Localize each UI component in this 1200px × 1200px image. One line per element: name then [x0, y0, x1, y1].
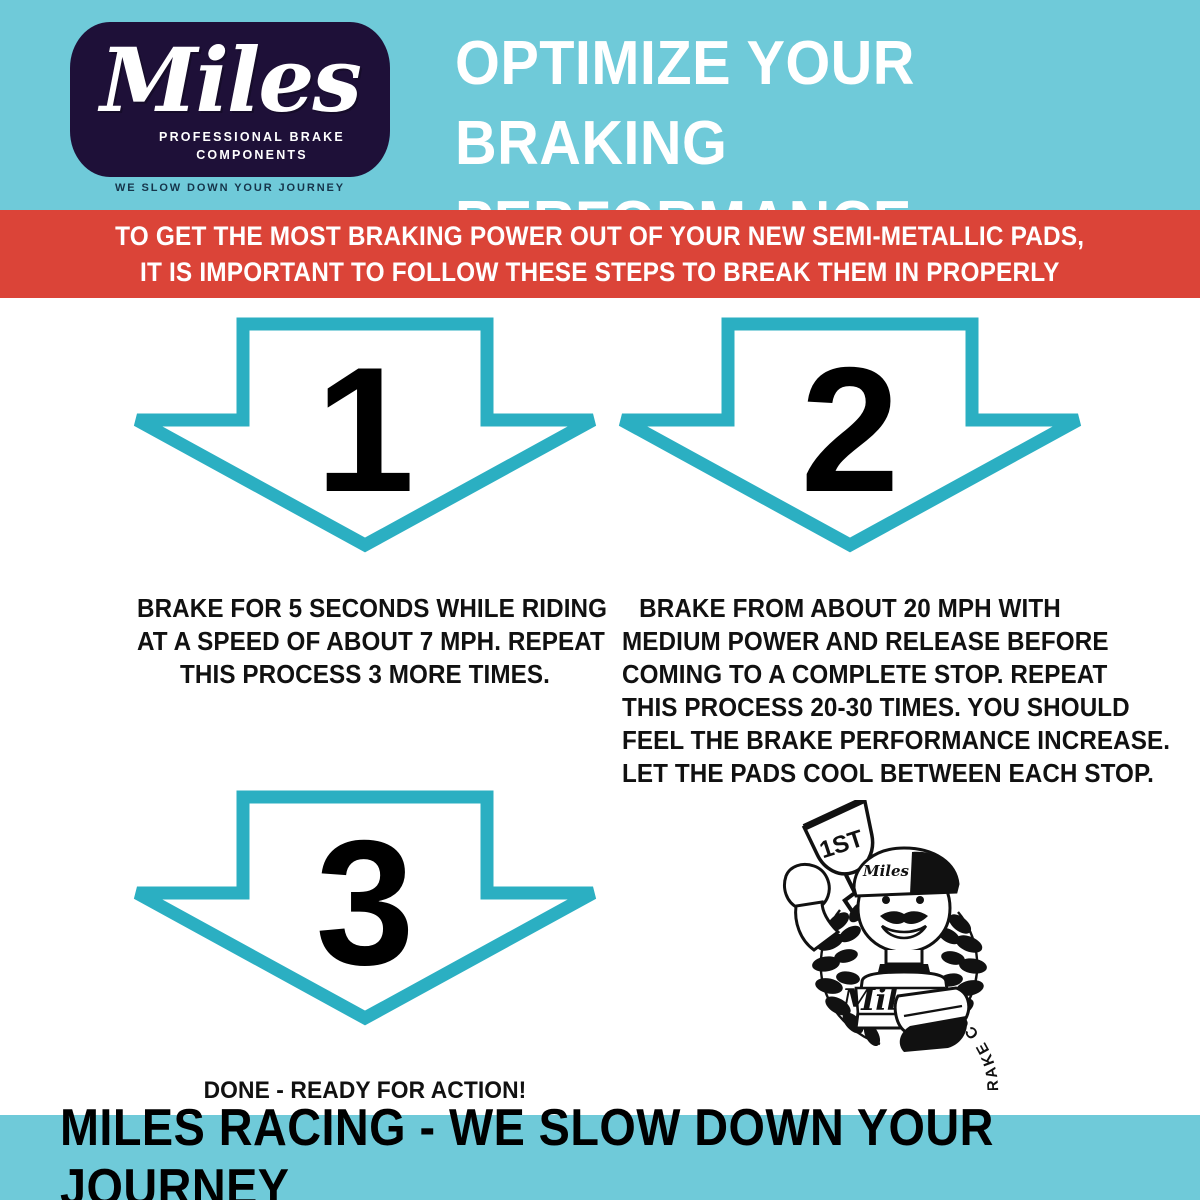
step-2-text-line-2: MEDIUM POWER AND RELEASE BEFORE: [622, 626, 1078, 659]
step-1-text-line-1: BRAKE FOR 5 SECONDS WHILE RIDING: [137, 593, 593, 626]
step-1-arrow: 1: [125, 312, 605, 557]
step-1-text-line-2: AT A SPEED OF ABOUT 7 MPH. REPEAT: [137, 626, 593, 659]
logo-subtitle-line2: COMPONENTS: [70, 148, 390, 162]
step-1-number: 1: [125, 312, 605, 557]
step-2: 2 BRAKE FROM ABOUT 20 MPH WITH MEDIUM PO…: [610, 312, 1090, 791]
footer-band: MILES RACING - WE SLOW DOWN YOUR JOURNEY: [0, 1115, 1200, 1200]
step-2-text-line-6: LET THE PADS COOL BETWEEN EACH STOP.: [622, 758, 1078, 791]
footer-text: MILES RACING - WE SLOW DOWN YOUR JOURNEY: [60, 1098, 1140, 1200]
infographic-page: Miles PROFESSIONAL BRAKE COMPONENTS WE S…: [0, 0, 1200, 1200]
mascot-seal: PROFESSIONAL BRAKE COMPONENTS: [780, 800, 1030, 1090]
brake-part-icon: [895, 988, 969, 1052]
mascot-eye-right: [916, 896, 924, 904]
step-2-text: BRAKE FROM ABOUT 20 MPH WITH MEDIUM POWE…: [622, 593, 1078, 791]
racer-mascot-icon: PROFESSIONAL BRAKE COMPONENTS: [780, 800, 1030, 1090]
intro-banner-line-2: IT IS IMPORTANT TO FOLLOW THESE STEPS TO…: [140, 254, 1060, 290]
mascot-head: Miles: [854, 848, 958, 980]
step-3-number: 3: [125, 785, 605, 1030]
step-2-text-line-3: COMING TO A COMPLETE STOP. REPEAT: [622, 659, 1078, 692]
logo-tagline: WE SLOW DOWN YOUR JOURNEY: [70, 182, 390, 194]
step-1: 1 BRAKE FOR 5 SECONDS WHILE RIDING AT A …: [125, 312, 605, 692]
headline-line-1: OPTIMIZE YOUR BRAKING: [455, 24, 1125, 184]
step-2-number: 2: [610, 312, 1090, 557]
logo-subtitle-line1: PROFESSIONAL BRAKE: [70, 130, 390, 144]
mascot-arm: [785, 864, 839, 950]
intro-banner: TO GET THE MOST BRAKING POWER OUT OF YOU…: [0, 210, 1200, 298]
mascot-eye-left: [882, 896, 890, 904]
step-2-text-line-1: BRAKE FROM ABOUT 20 MPH WITH: [622, 593, 1078, 626]
intro-banner-line-1: TO GET THE MOST BRAKING POWER OUT OF YOU…: [115, 218, 1084, 254]
step-1-text: BRAKE FOR 5 SECONDS WHILE RIDING AT A SP…: [137, 593, 593, 692]
header-band: Miles PROFESSIONAL BRAKE COMPONENTS WE S…: [0, 0, 1200, 210]
step-1-text-line-3: THIS PROCESS 3 MORE TIMES.: [137, 659, 593, 692]
step-2-text-line-4: THIS PROCESS 20-30 TIMES. YOU SHOULD: [622, 692, 1078, 725]
step-3: 3 DONE - READY FOR ACTION!: [125, 785, 605, 1107]
mascot-cap-script: Miles: [862, 862, 910, 880]
miles-logo: Miles PROFESSIONAL BRAKE COMPONENTS WE S…: [70, 22, 390, 202]
step-3-arrow: 3: [125, 785, 605, 1030]
step-2-arrow: 2: [610, 312, 1090, 557]
logo-brand-script: Miles: [70, 24, 390, 136]
step-2-text-line-5: FEEL THE BRAKE PERFORMANCE INCREASE.: [622, 725, 1078, 758]
